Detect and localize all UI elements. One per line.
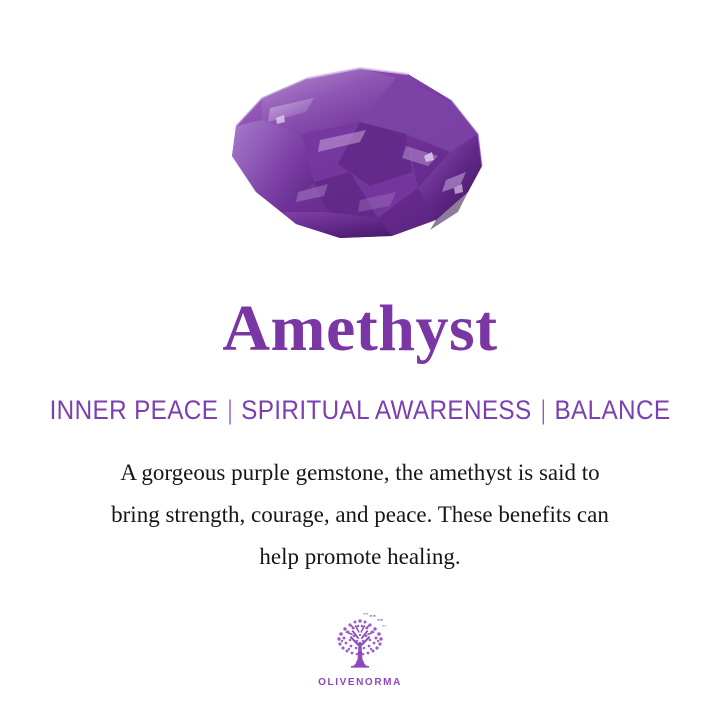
keyword-spiritual-awareness: SPIRITUAL AWARENESS [241, 395, 531, 425]
brand-logo[interactable]: OLIVENORMA [0, 612, 720, 688]
description-text: A gorgeous purple gemstone, the amethyst… [40, 452, 680, 578]
keyword-balance: BALANCE [554, 395, 670, 425]
keyword-separator: | [223, 396, 237, 424]
amethyst-raw-gemstone [210, 60, 510, 260]
brand-wordmark: OLIVENORMA [0, 677, 720, 688]
page-title: Amethyst [0, 296, 720, 362]
description-line: bring strength, courage, and peace. Thes… [40, 494, 680, 536]
gemstone-image-area [0, 60, 720, 275]
keyword-separator: | [536, 396, 550, 424]
description-line: A gorgeous purple gemstone, the amethyst… [40, 452, 680, 494]
keyword-list: INNER PEACE|SPIRITUAL AWARENESS|BALANCE [36, 396, 684, 424]
tree-of-life-logo-icon [327, 612, 393, 674]
description-line: help promote healing. [40, 536, 680, 578]
amethyst-info-card: Amethyst INNER PEACE|SPIRITUAL AWARENESS… [0, 0, 720, 720]
keyword-inner-peace: INNER PEACE [50, 395, 219, 425]
